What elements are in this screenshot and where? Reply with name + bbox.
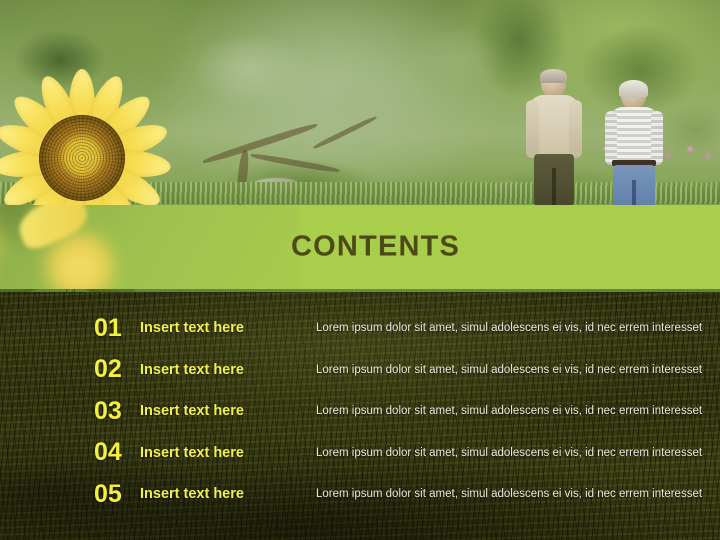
- contents-list: 01Insert text hereLorem ipsum dolor sit …: [0, 292, 720, 540]
- person-arm: [569, 100, 582, 158]
- person-arm: [651, 111, 663, 165]
- person-walking-left: [524, 70, 582, 205]
- contents-row[interactable]: 01Insert text hereLorem ipsum dolor sit …: [0, 314, 720, 342]
- contents-row-title[interactable]: Insert text here: [140, 362, 244, 378]
- contents-row[interactable]: 02Insert text hereLorem ipsum dolor sit …: [0, 356, 720, 384]
- contents-row-title[interactable]: Insert text here: [140, 320, 244, 336]
- person-leg-gap: [552, 168, 556, 206]
- contents-row-description[interactable]: Lorem ipsum dolor sit amet, simul adoles…: [316, 364, 702, 376]
- contents-row-title[interactable]: Insert text here: [140, 445, 244, 461]
- contents-row-number: 02: [94, 355, 138, 384]
- contents-panel: 01Insert text hereLorem ipsum dolor sit …: [0, 292, 720, 540]
- contents-row-number: 03: [94, 397, 138, 426]
- contents-row-title[interactable]: Insert text here: [140, 403, 244, 419]
- contents-row-description[interactable]: Lorem ipsum dolor sit amet, simul adoles…: [316, 447, 702, 459]
- contents-banner: CONTENTS: [0, 205, 720, 289]
- contents-row-number: 04: [94, 438, 138, 467]
- sunflower-center: [39, 115, 125, 201]
- contents-row-description[interactable]: Lorem ipsum dolor sit amet, simul adoles…: [316, 488, 702, 500]
- page-title: CONTENTS: [291, 231, 460, 264]
- contents-row-description[interactable]: Lorem ipsum dolor sit amet, simul adoles…: [316, 405, 702, 417]
- contents-row-number: 01: [94, 314, 138, 343]
- contents-row[interactable]: 05Insert text hereLorem ipsum dolor sit …: [0, 480, 720, 508]
- contents-row-number: 05: [94, 480, 138, 509]
- contents-row-title[interactable]: Insert text here: [140, 486, 244, 502]
- person-hair: [619, 80, 648, 98]
- contents-row[interactable]: 03Insert text hereLorem ipsum dolor sit …: [0, 397, 720, 425]
- contents-row-description[interactable]: Lorem ipsum dolor sit amet, simul adoles…: [316, 322, 702, 334]
- presentation-slide: CONTENTS 01Insert text hereLorem ipsum d…: [0, 0, 720, 540]
- person-arm: [526, 100, 539, 158]
- person-arm: [605, 111, 617, 165]
- contents-row[interactable]: 04Insert text hereLorem ipsum dolor sit …: [0, 439, 720, 467]
- person-hair: [540, 69, 567, 83]
- person-walking-right: [605, 82, 663, 207]
- banner-blurred-sunflower: [0, 205, 300, 289]
